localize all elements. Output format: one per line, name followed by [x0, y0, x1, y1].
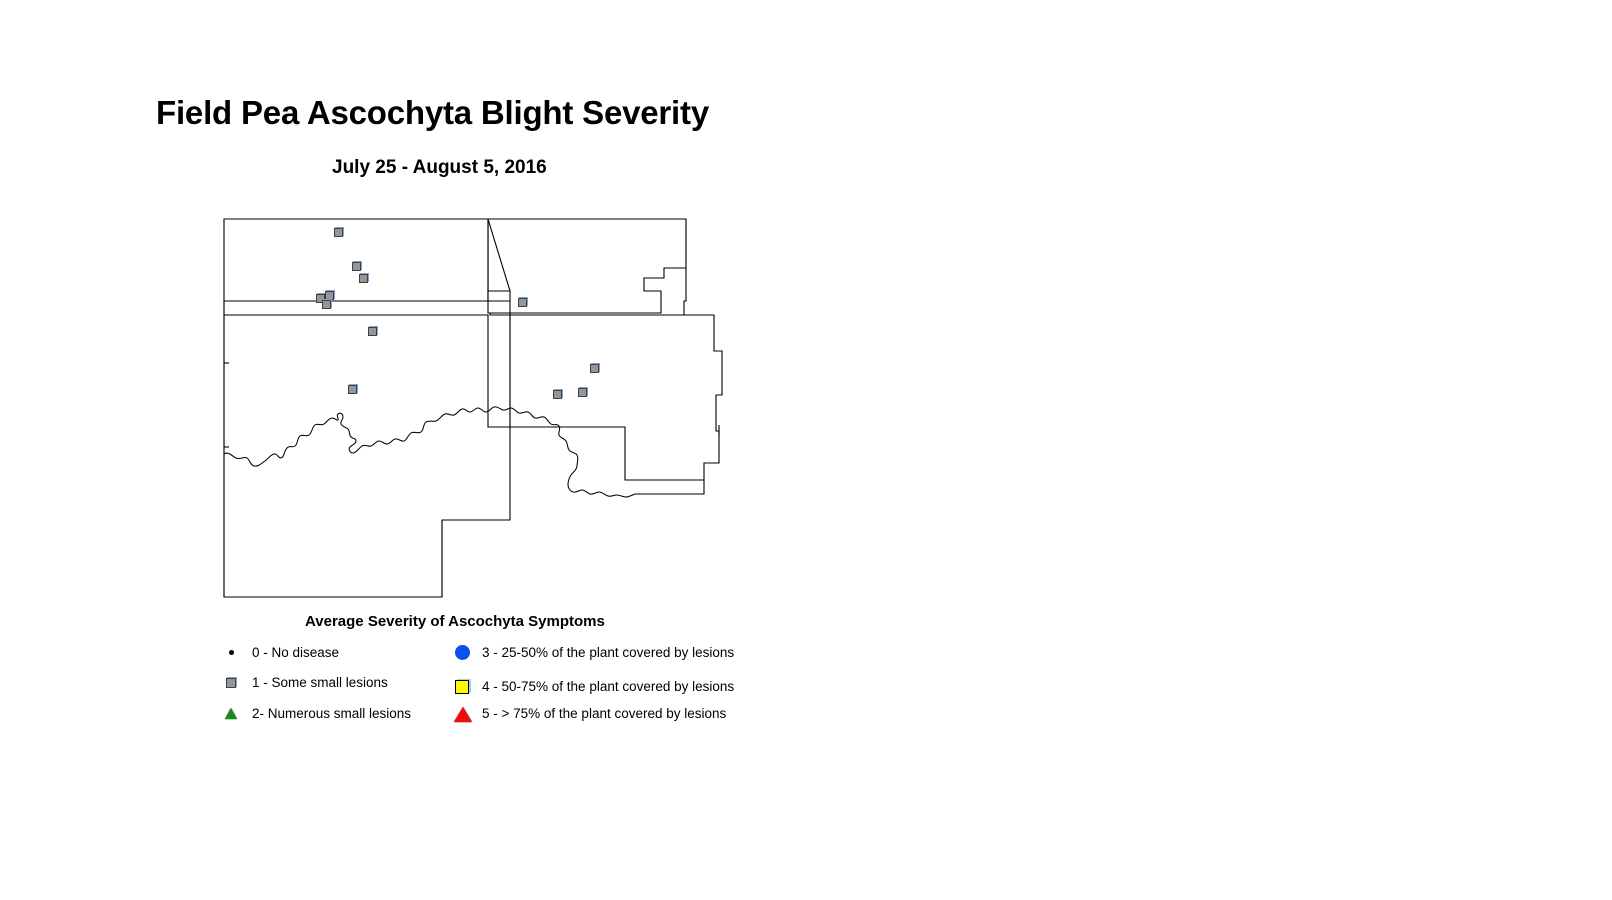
legend-symbol-over-75-percent [452, 705, 474, 723]
map-marker-site-11[interactable] [553, 390, 562, 399]
yellow-square-icon [455, 680, 469, 694]
county-polygon-top-left [224, 219, 488, 301]
red-triangle-icon [454, 707, 472, 722]
legend-item-0[interactable]: 0 - No disease [222, 644, 339, 662]
page-subtitle: July 25 - August 5, 2016 [332, 157, 547, 179]
legend-label-1: 1 - Some small lesions [252, 676, 388, 690]
map-marker-site-2[interactable] [352, 262, 361, 271]
map-marker-site-7[interactable] [368, 327, 377, 336]
map-marker-site-6[interactable] [322, 300, 331, 309]
small-black-dot-icon [229, 650, 234, 655]
legend-symbol-25-50-percent [452, 644, 474, 662]
legend-symbol-numerous-small-lesions [222, 705, 244, 723]
legend-symbol-some-small-lesions [222, 674, 244, 692]
legend-label-3: 3 - 25-50% of the plant covered by lesio… [482, 646, 734, 660]
county-polygon-east-central [510, 315, 722, 480]
legend-title: Average Severity of Ascochyta Symptoms [305, 613, 605, 630]
legend-item-4[interactable]: 4 - 50-75% of the plant covered by lesio… [452, 678, 734, 696]
poster-canvas: Field Pea Ascochyta Blight Severity July… [0, 0, 1612, 900]
legend-item-3[interactable]: 3 - 25-50% of the plant covered by lesio… [452, 644, 734, 662]
legend-label-0: 0 - No disease [252, 646, 339, 660]
green-triangle-icon [225, 708, 237, 719]
legend-item-2[interactable]: 2- Numerous small lesions [222, 705, 411, 723]
page-title: Field Pea Ascochyta Blight Severity [156, 94, 709, 132]
map-marker-site-3[interactable] [359, 274, 368, 283]
legend-symbol-no-disease [222, 644, 244, 662]
county-polygon-lower-left [224, 301, 510, 597]
map-marker-site-9[interactable] [348, 385, 357, 394]
legend-item-1[interactable]: 1 - Some small lesions [222, 674, 388, 692]
map-marker-site-1[interactable] [334, 228, 343, 237]
survey-map [220, 215, 740, 605]
map-marker-site-5[interactable] [325, 291, 334, 300]
legend-label-4: 4 - 50-75% of the plant covered by lesio… [482, 680, 734, 694]
map-marker-site-8[interactable] [518, 298, 527, 307]
legend-item-5[interactable]: 5 - > 75% of the plant covered by lesion… [452, 705, 726, 723]
legend-symbol-50-75-percent [452, 678, 474, 696]
county-line-southeast-step [635, 480, 704, 494]
map-marker-site-10[interactable] [590, 364, 599, 373]
blue-circle-icon [455, 645, 470, 660]
map-marker-site-12[interactable] [578, 388, 587, 397]
gray-square-icon [226, 678, 236, 688]
legend-label-2: 2- Numerous small lesions [252, 707, 411, 721]
county-boundaries-svg [220, 215, 740, 605]
legend-label-5: 5 - > 75% of the plant covered by lesion… [482, 707, 726, 721]
